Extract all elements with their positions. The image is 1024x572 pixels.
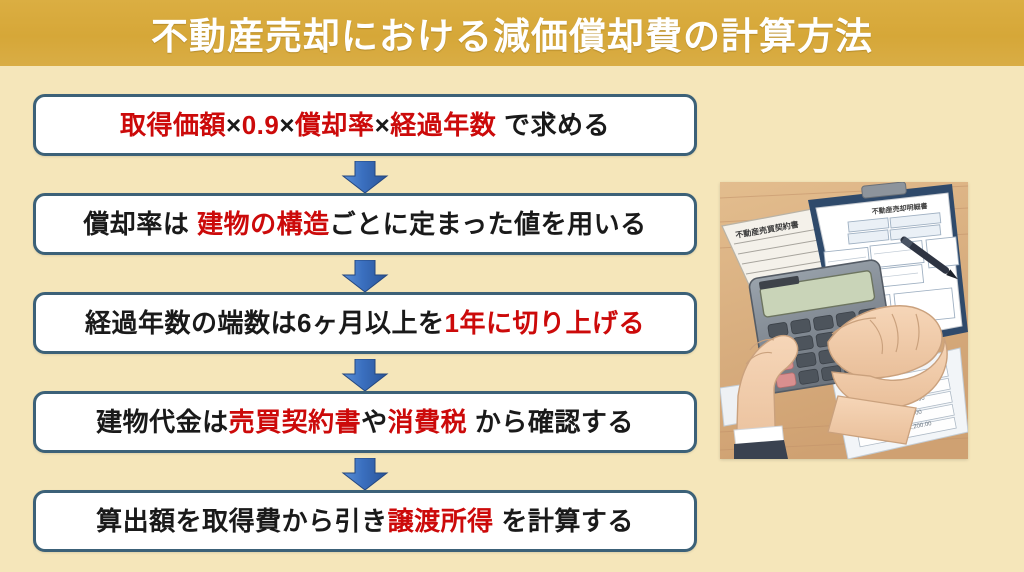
text-run-highlight: 譲渡所得: [388, 506, 494, 536]
text-run-normal: から確認する: [467, 407, 634, 437]
text-run-highlight: 償却率: [295, 110, 375, 140]
text-run-normal: 経過年数の端数は6ヶ月以上を: [85, 308, 444, 338]
flow-step-2: 償却率は 建物の構造ごとに定まった値を用いる: [33, 193, 697, 255]
flow-step-1: 取得価額×0.9×償却率×経過年数 で求める: [33, 94, 697, 156]
flow-step-4: 建物代金は売買契約書や消費税 から確認する: [33, 391, 697, 453]
text-run-highlight: 取得価額: [120, 110, 226, 140]
flow-step-3-text: 経過年数の端数は6ヶ月以上を1年に切り上げる: [85, 310, 645, 336]
flow-arrow-1: [341, 161, 389, 194]
flow-arrow-3: [341, 359, 389, 392]
flow-arrow-2: [341, 260, 389, 293]
text-run-operator: ×: [375, 110, 391, 140]
flow-step-1-text: 取得価額×0.9×償却率×経過年数 で求める: [120, 112, 610, 138]
text-run-highlight: 売買契約書: [229, 407, 362, 437]
flow-arrow-4: [341, 458, 389, 491]
flow-step-5-text: 算出額を取得費から引き譲渡所得 を計算する: [96, 508, 634, 534]
flow-step-3: 経過年数の端数は6ヶ月以上を1年に切り上げる: [33, 292, 697, 354]
text-run-normal: 算出額を取得費から引き: [96, 506, 388, 536]
infographic-canvas: 不動産売却における減価償却費の計算方法 取得価額×0.9×償却率×経過年数 で求…: [0, 0, 1024, 572]
text-run-normal: 建物代金は: [96, 407, 229, 437]
flow-step-2-text: 償却率は 建物の構造ごとに定まった値を用いる: [83, 211, 646, 237]
text-run-normal: ごとに定まった値を用いる: [330, 209, 647, 239]
calculator-documents-illustration: 不動産売買契約書 不動産売却明細書: [720, 182, 968, 459]
text-run-normal: 償却率は: [83, 209, 197, 239]
text-run-highlight: 0.9: [242, 110, 280, 140]
text-run-operator: ×: [226, 110, 242, 140]
page-title: 不動産売却における減価償却費の計算方法: [0, 0, 1024, 66]
text-run-highlight: 消費税: [388, 407, 468, 437]
text-run-highlight: 経過年数: [390, 110, 496, 140]
flow-step-4-text: 建物代金は売買契約書や消費税 から確認する: [96, 409, 634, 435]
text-run-normal: を計算する: [494, 506, 634, 536]
text-run-highlight: 1年に切り上げる: [445, 308, 645, 338]
header-band: 不動産売却における減価償却費の計算方法: [0, 0, 1024, 66]
text-run-normal: や: [361, 407, 388, 437]
text-run-highlight: 建物の構造: [197, 209, 330, 239]
text-run-normal: で求める: [496, 110, 610, 140]
flow-step-5: 算出額を取得費から引き譲渡所得 を計算する: [33, 490, 697, 552]
text-run-operator: ×: [279, 110, 295, 140]
